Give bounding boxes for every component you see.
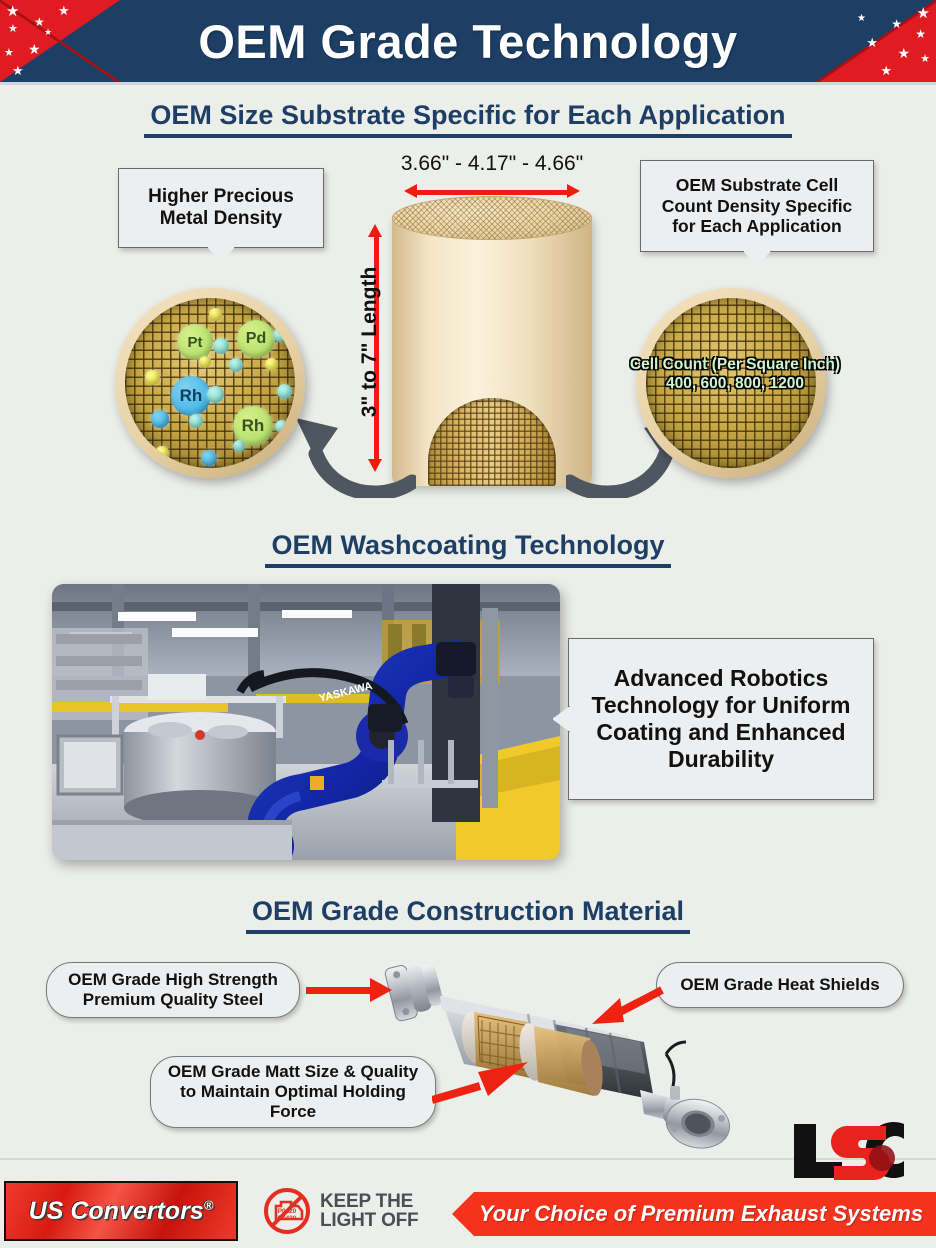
precious-metal-particle [277,384,292,399]
callout-high-strength-steel: OEM Grade High Strength Premium Quality … [46,962,300,1018]
keep-light-off-text: KEEP THE LIGHT OFF [320,1192,418,1231]
red-arrow-to-matt [432,1060,536,1108]
keep-light-line-1: KEEP THE [320,1192,418,1211]
precious-metal-rh: Rh [171,376,211,416]
diameter-label: 3.66" - 4.17" - 4.66" [330,152,654,176]
page-title: OEM Grade Technology [0,0,936,82]
precious-metal-particle [265,358,278,371]
precious-metal-particle [207,386,224,403]
page-header: ★ ★ ★ ★ ★ ★ ★ ★ OEM Grade Technology ★ ★… [0,0,936,82]
precious-metal-particle [145,370,160,385]
callout-text: Advanced Robotics Technology for Uniform… [577,665,865,774]
callout-text: OEM Grade Heat Shields [680,975,879,995]
arrow-head-icon [370,978,392,1002]
honeycomb-surface: PtPdRhRh [125,298,295,468]
header-divider [0,82,936,85]
precious-metal-particle [151,410,169,428]
washcoating-robot-photo: YASKAWA [52,584,560,860]
precious-metal-particle [275,420,288,433]
robot-photo-illustration: YASKAWA [52,584,560,860]
callout-oem-substrate-cell-count: OEM Substrate Cell Count Density Specifi… [640,160,874,252]
keep-light-line-2: LIGHT OFF [320,1211,418,1230]
section-title-construction-text: OEM Grade Construction Material [252,896,684,934]
section-title-construction: OEM Grade Construction Material [0,896,936,934]
callout-advanced-robotics: Advanced Robotics Technology for Uniform… [568,638,874,800]
precious-metal-particle [213,338,229,354]
callout-tail [207,247,235,263]
precious-metal-pt: Pt [177,324,213,360]
cell-count-title: Cell Count (Per Square Inch) [600,356,870,375]
callout-matt-size-quality: OEM Grade Matt Size & Quality to Maintai… [150,1056,436,1128]
precious-metal-particle [273,328,287,342]
section-title-washcoating-text: OEM Washcoating Technology [271,530,664,568]
cylinder-body [392,214,592,486]
us-convertors-logo[interactable]: US Convertors® [4,1181,238,1241]
precious-metal-particle [263,448,276,461]
arrow-shaft [414,190,570,195]
precious-metal-particle [209,308,222,321]
section-title-substrate-text: OEM Size Substrate Specific for Each App… [150,100,785,138]
precious-metal-particle [155,446,169,460]
substrate-closeup-precious-metals: PtPdRhRh [115,288,305,478]
cylinder-honeycomb-cutaway [428,398,556,486]
callout-text: OEM Grade High Strength Premium Quality … [55,970,291,1010]
substrate-cylinder [392,196,592,496]
section-title-washcoating: OEM Washcoating Technology [0,530,936,568]
callout-text: OEM Substrate Cell Count Density Specifi… [649,175,865,237]
arrow-shaft [306,987,370,994]
precious-metal-particle [189,414,203,428]
callout-higher-precious-metal-density: Higher Precious Metal Density [118,168,324,248]
keep-the-light-off-badge: P0420 P0430 KEEP THE LIGHT OFF [262,1183,462,1239]
cylinder-top-honeycomb [392,196,592,240]
tagline-banner: Your Choice of Premium Exhaust Systems [452,1192,936,1236]
precious-metal-particle [201,450,217,466]
callout-text: Higher Precious Metal Density [127,186,315,231]
callout-heat-shields: OEM Grade Heat Shields [656,962,904,1008]
curved-arrow-left [286,398,416,498]
callout-text: OEM Grade Matt Size & Quality to Maintai… [159,1062,427,1122]
tagline-text: Your Choice of Premium Exhaust Systems [465,1201,923,1227]
precious-metal-pd: Pd [237,320,275,358]
callout-tail [743,251,771,267]
section-title-substrate: OEM Size Substrate Specific for Each App… [0,100,936,138]
red-arrow-to-steel [306,984,392,996]
precious-metal-particle [199,356,211,368]
red-arrow-to-heat-shields [586,984,664,1032]
registered-mark: ® [204,1197,214,1212]
precious-metal-particle [229,358,243,372]
no-check-engine-light-icon: P0420 P0430 [262,1186,312,1236]
cell-count-values: 400, 600, 800, 1200 [600,375,870,394]
brand-name: US Convertors® [29,1197,214,1226]
precious-metal-particle [233,440,245,452]
cell-count-label: Cell Count (Per Square Inch) 400, 600, 8… [600,356,870,394]
lsc-logo[interactable] [786,1118,922,1182]
